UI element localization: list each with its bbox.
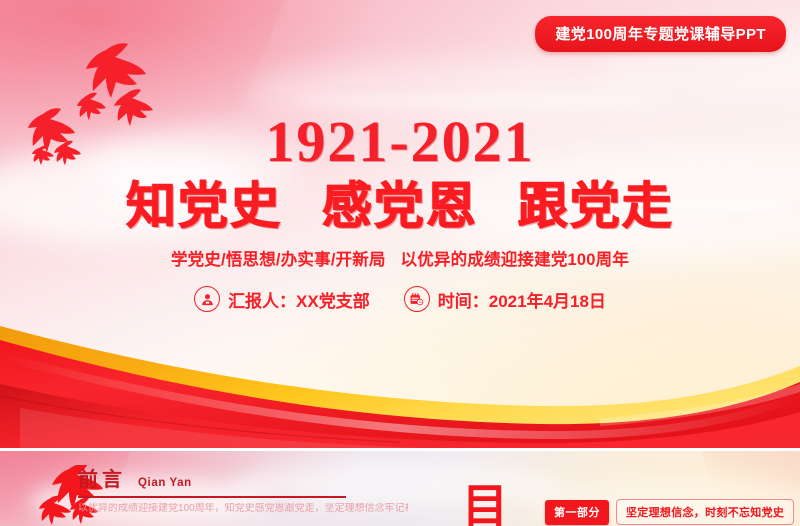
presentation-thumbnail-view: 1921-2021 知党史 感党恩 跟党走 学党史/悟思想/办实事/开新局 以优… (0, 0, 800, 526)
slogan-part: 感党恩 (322, 178, 478, 234)
slogan-part: 知党史 (126, 178, 282, 234)
cover-subtitle-a: 学党史/悟思想/办实事/开新局 (171, 251, 386, 269)
page-title-slogan: 知党史 感党恩 跟党走 (0, 178, 800, 234)
page-title-years: 1921-2021 (0, 112, 800, 172)
part-title-pill: 坚定理想信念，时刻不忘知党史 (616, 499, 794, 525)
cover-subtitle-b: 以优异的成绩迎接建党100周年 (401, 251, 630, 269)
section-underline (78, 496, 346, 498)
section-heading-block: 前言 Qian Yan 以优异的成绩迎接建党100周年，知党史感党恩跟党走，坚定… (78, 469, 348, 512)
section-title-en: Qian Yan (138, 477, 192, 491)
cover-subtitle: 学党史/悟思想/办实事/开新局 以优异的成绩迎接建党100周年 (0, 246, 800, 270)
section-body-preview: 以优异的成绩迎接建党100周年，知党史感党恩跟党走，坚定理想信念牢记初心使命。 (78, 503, 408, 512)
slide-1-cover[interactable]: 1921-2021 知党史 感党恩 跟党走 学党史/悟思想/办实事/开新局 以优… (0, 0, 800, 448)
slogan-part: 跟党走 (518, 178, 674, 234)
red-gold-ribbon-wave (0, 300, 800, 448)
catalog-glyph: 目 (462, 483, 508, 526)
part-badge: 第一部分 (545, 500, 609, 525)
section-heading-row: 前言 Qian Yan (78, 469, 348, 491)
top-ribbon-badge[interactable]: 建党100周年专题党课辅导PPT (535, 16, 786, 52)
section-title-cn: 前言 (78, 469, 126, 491)
section-chip-row: 第一部分 坚定理想信念，时刻不忘知党史 (545, 499, 794, 525)
